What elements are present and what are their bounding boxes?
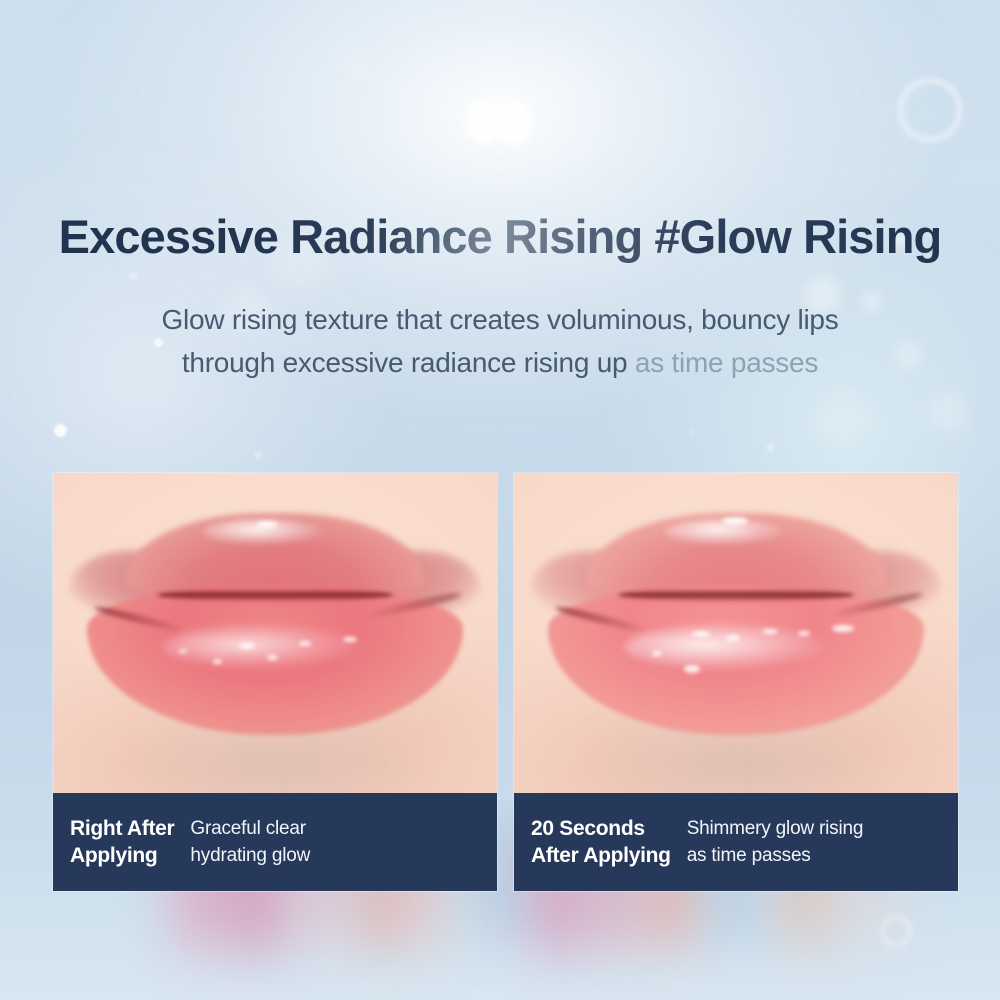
gloss-speck-7	[256, 521, 278, 528]
gloss-speck-6	[179, 649, 187, 653]
lips-photo-right-after-applying	[53, 473, 497, 793]
caption-description: Graceful clear hydrating glow	[190, 815, 310, 869]
comparison-panel-right-after-applying[interactable]: Right After Applying Graceful clear hydr…	[53, 473, 497, 891]
lower-lip-gloss	[163, 625, 363, 669]
subtitle: Glow rising texture that creates volumin…	[0, 298, 1000, 384]
caption-label: Right After Applying	[70, 815, 174, 869]
gloss-speck-3	[213, 659, 222, 664]
gloss-speck-2	[267, 655, 278, 660]
gloss-speck-2	[726, 635, 740, 641]
promo-banner: 03 Excessive Radiance Rising #Glow Risin…	[0, 0, 1000, 1000]
caption-label: 20 Seconds After Applying	[531, 815, 671, 869]
gloss-speck-8	[722, 517, 748, 525]
subtitle-line-1: Glow rising texture that creates volumin…	[162, 304, 839, 335]
gloss-speck-4	[798, 631, 810, 636]
gloss-speck-1	[239, 643, 255, 649]
gloss-speck-3	[762, 629, 778, 634]
gloss-speck-1	[692, 631, 710, 637]
section-number: 03	[0, 92, 1000, 154]
caption-bar-right-after-applying: Right After Applying Graceful clear hydr…	[53, 793, 497, 891]
lip-center-line	[618, 589, 854, 601]
caption-description: Shimmery glow rising as time passes	[687, 815, 864, 869]
lips-illustration	[53, 473, 497, 793]
lower-lip-gloss	[624, 625, 824, 669]
gloss-speck-5	[343, 637, 357, 642]
gloss-speck-7	[832, 625, 854, 632]
lips-photo-20-seconds-after-applying	[514, 473, 958, 793]
page-title: Excessive Radiance Rising #Glow Rising	[0, 209, 1000, 264]
subtitle-line-2a: through excessive radiance rising up	[182, 347, 635, 378]
comparison-panels: Right After Applying Graceful clear hydr…	[53, 473, 958, 891]
subtitle-line-2b: as time passes	[635, 347, 818, 378]
lip-center-line	[157, 589, 393, 601]
gloss-speck-6	[652, 651, 662, 656]
gloss-speck-4	[299, 641, 311, 646]
comparison-panel-20-seconds-after-applying[interactable]: 20 Seconds After Applying Shimmery glow …	[514, 473, 958, 891]
caption-bar-20-seconds-after-applying: 20 Seconds After Applying Shimmery glow …	[514, 793, 958, 891]
lips-illustration	[514, 473, 958, 793]
gloss-speck-5	[684, 665, 700, 673]
